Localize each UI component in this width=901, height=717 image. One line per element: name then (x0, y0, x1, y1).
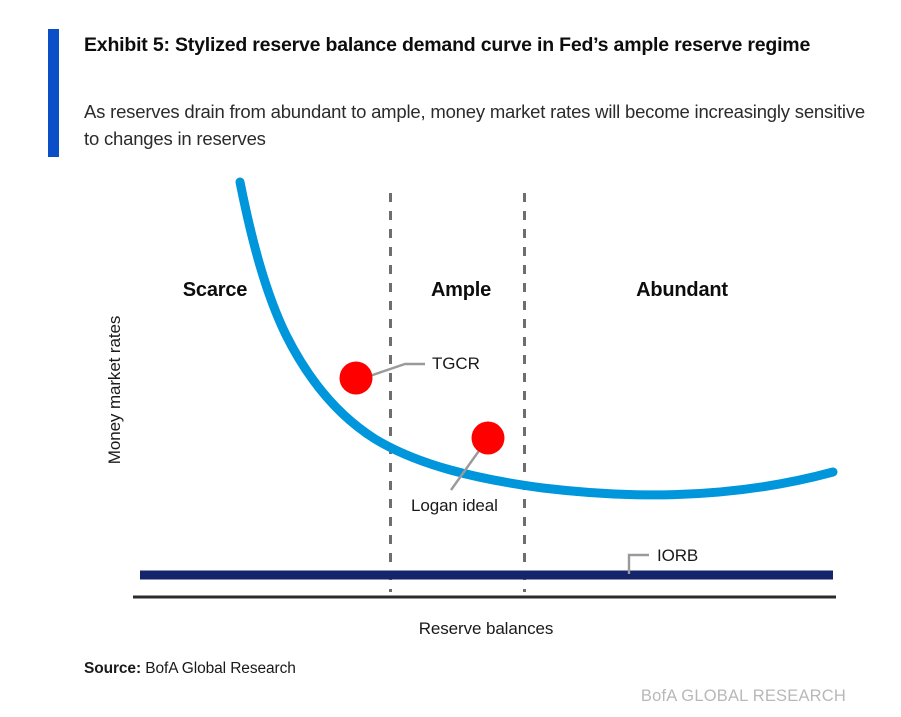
tgcr-label: TGCR (432, 354, 480, 373)
accent-bar (48, 29, 59, 157)
source-text: BofA Global Research (145, 660, 296, 677)
region-label-scarce: Scarce (183, 279, 247, 301)
tgcr-marker (340, 362, 373, 395)
x-axis-title: Reserve balances (419, 619, 553, 638)
region-label-abundant: Abundant (636, 279, 728, 301)
watermark: BofA GLOBAL RESEARCH (641, 687, 846, 706)
iorb-label: IORB (657, 546, 698, 565)
exhibit-header: Exhibit 5: Stylized reserve balance dema… (0, 0, 901, 168)
demand-curve (240, 182, 833, 494)
chart-canvas: Scarce Ample Abundant TGCR IORB Logan id… (0, 168, 901, 648)
page-subtitle: As reserves drain from abundant to ample… (84, 98, 884, 152)
region-label-ample: Ample (431, 279, 491, 301)
reserve-demand-curve-path (240, 182, 833, 495)
source-label: Source: (84, 660, 141, 677)
demand-curve-stroke (240, 182, 833, 497)
page-title: Exhibit 5: Stylized reserve balance dema… (84, 31, 874, 59)
logan-ideal-label: Logan ideal (411, 496, 498, 515)
logan-ideal-marker (472, 422, 505, 455)
y-axis-title: Money market rates (105, 316, 124, 464)
source-note: Source: BofA Global Research (84, 660, 296, 678)
